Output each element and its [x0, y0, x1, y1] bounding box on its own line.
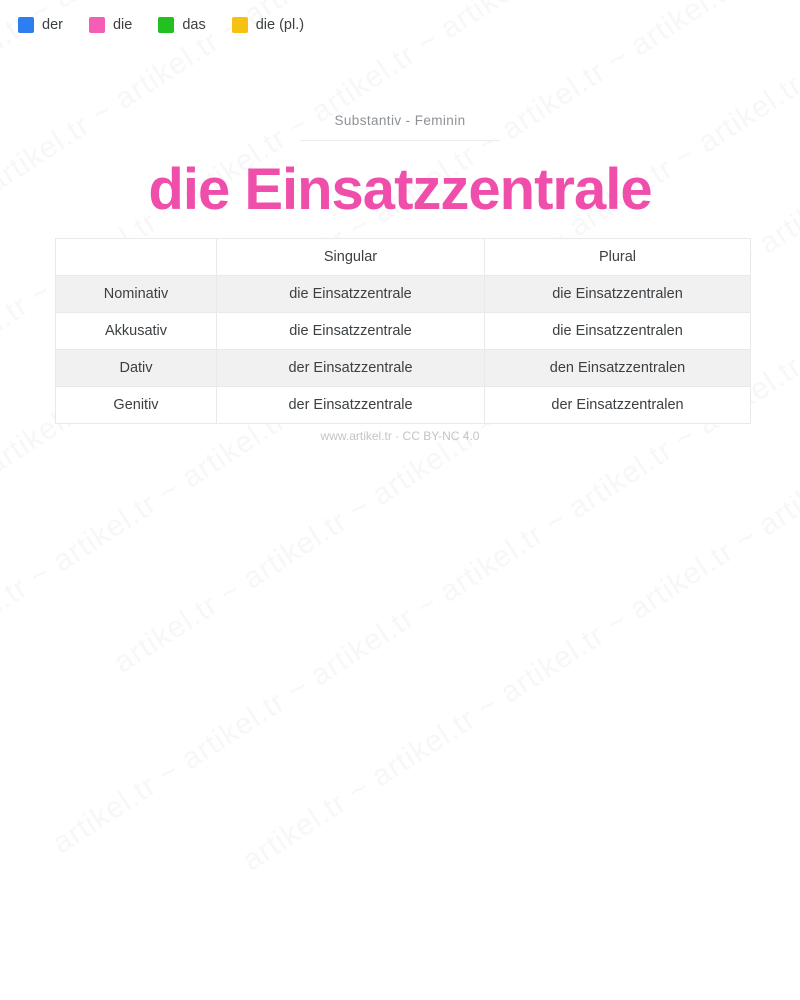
- declension-table: Singular Plural Nominativ die Einsatzzen…: [55, 238, 751, 424]
- plural-form: die Einsatzzentralen: [485, 313, 751, 350]
- page-title: die Einsatzzentrale: [0, 155, 800, 225]
- color-swatch-icon: [18, 17, 34, 33]
- legend-item-der: der: [18, 17, 63, 33]
- legend-label: die (pl.): [256, 17, 304, 33]
- legend-item-die: die: [89, 17, 132, 33]
- legend-item-das: das: [158, 17, 205, 33]
- article-color-legend: der die das die (pl.): [18, 17, 330, 33]
- singular-form: der Einsatzzentrale: [217, 387, 485, 424]
- table-row: Nominativ die Einsatzzentrale die Einsat…: [56, 276, 751, 313]
- legend-item-die-plural: die (pl.): [232, 17, 304, 33]
- column-header-singular: Singular: [217, 239, 485, 276]
- header-block: Substantiv - Feminin die Einsatzzentrale: [0, 112, 800, 225]
- color-swatch-icon: [158, 17, 174, 33]
- singular-form: die Einsatzzentrale: [217, 313, 485, 350]
- legend-label: die: [113, 17, 132, 33]
- plural-form: die Einsatzzentralen: [485, 276, 751, 313]
- legend-label: der: [42, 17, 63, 33]
- column-header-case: [56, 239, 217, 276]
- case-label: Dativ: [56, 350, 217, 387]
- table-row: Dativ der Einsatzzentrale den Einsatzzen…: [56, 350, 751, 387]
- table-header-row: Singular Plural: [56, 239, 751, 276]
- word-type-subtitle: Substantiv - Feminin: [0, 112, 800, 130]
- plural-form: den Einsatzzentralen: [485, 350, 751, 387]
- table-row: Akkusativ die Einsatzzentrale die Einsat…: [56, 313, 751, 350]
- footer-credit: www.artikel.tr · CC BY-NC 4.0: [0, 429, 800, 443]
- subtitle-divider: [300, 140, 500, 141]
- conjugation-card: der die das die (pl.) Substantiv - Femin…: [0, 0, 800, 533]
- plural-form: der Einsatzzentralen: [485, 387, 751, 424]
- case-label: Nominativ: [56, 276, 217, 313]
- case-label: Genitiv: [56, 387, 217, 424]
- singular-form: der Einsatzzentrale: [217, 350, 485, 387]
- singular-form: die Einsatzzentrale: [217, 276, 485, 313]
- table-row: Genitiv der Einsatzzentrale der Einsatzz…: [56, 387, 751, 424]
- legend-label: das: [182, 17, 205, 33]
- color-swatch-icon: [232, 17, 248, 33]
- color-swatch-icon: [89, 17, 105, 33]
- case-label: Akkusativ: [56, 313, 217, 350]
- column-header-plural: Plural: [485, 239, 751, 276]
